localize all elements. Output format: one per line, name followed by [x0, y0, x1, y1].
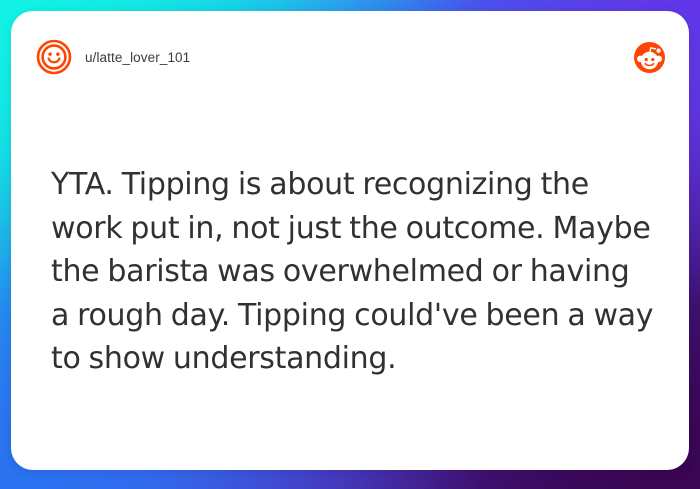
reddit-post-card: u/latte_lover_101 YTA. Tipping is about …	[11, 11, 689, 470]
reddit-snoo-icon[interactable]	[634, 42, 665, 73]
post-header: u/latte_lover_101	[11, 11, 689, 103]
gradient-background: u/latte_lover_101 YTA. Tipping is about …	[0, 0, 700, 489]
post-body-text: YTA. Tipping is about recognizing the wo…	[51, 163, 655, 381]
username-label: u/latte_lover_101	[85, 50, 190, 65]
smiley-face-icon	[36, 39, 72, 75]
